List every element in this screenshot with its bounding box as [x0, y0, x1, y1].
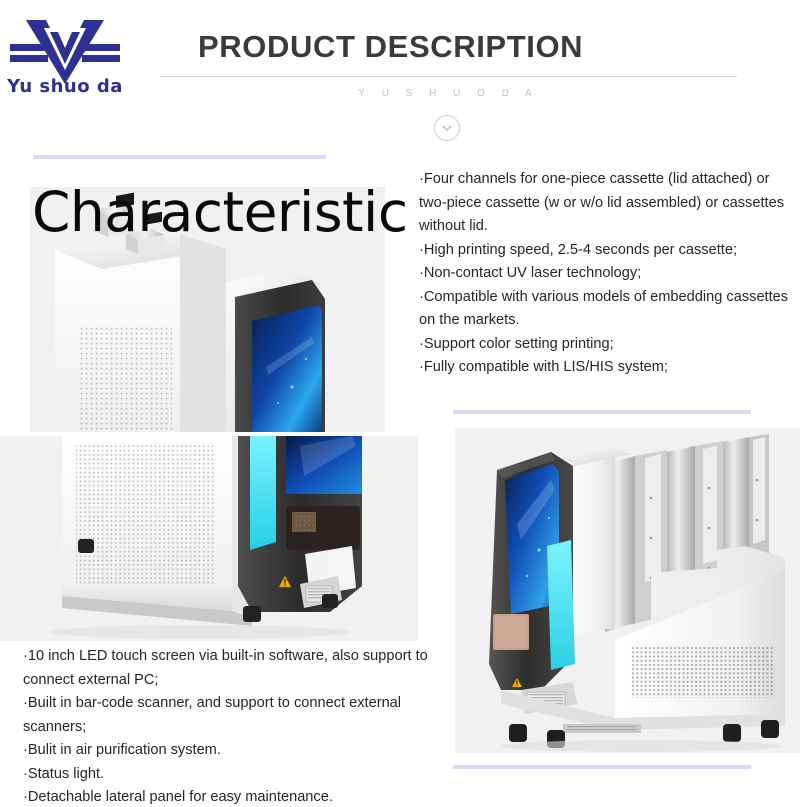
divider-bar-right-mid: [453, 410, 751, 414]
characteristic-heading: Characteristic: [32, 180, 408, 244]
feature-item: ·Four channels for one-piece cassette (l…: [419, 168, 791, 239]
features-bottom-list: ·10 inch LED touch screen via built-in s…: [23, 645, 435, 807]
feature-item: ·Fully compatible with LIS/HIS system;: [419, 356, 791, 380]
chevron-down-icon[interactable]: [434, 115, 460, 141]
feature-item: ·Detachable lateral panel for easy maint…: [23, 786, 435, 807]
cassette-printer-lower-body-photo: [0, 436, 418, 641]
divider-bar-right-bottom: [453, 765, 751, 769]
feature-item: ·Compatible with various models of embed…: [419, 286, 791, 333]
feature-item: ·Status light.: [23, 763, 435, 787]
feature-item: ·Built in bar-code scanner, and support …: [23, 692, 435, 739]
product-description-page: Yu shuo da PRODUCT DESCRIPTION Y U S H U…: [0, 0, 800, 807]
divider-bar-left-top: [33, 155, 326, 159]
feature-item: ·Bulit in air purification system.: [23, 739, 435, 763]
feature-item: ·10 inch LED touch screen via built-in s…: [23, 645, 435, 692]
cassette-printer-front-full-photo: [455, 428, 800, 753]
title-divider-rule: [160, 76, 737, 77]
feature-item: ·Non-contact UV laser technology;: [419, 262, 791, 286]
title-block: PRODUCT DESCRIPTION Y U S H U O D A: [160, 0, 800, 145]
page-header: Yu shuo da PRODUCT DESCRIPTION Y U S H U…: [0, 0, 800, 145]
features-right-list: ·Four channels for one-piece cassette (l…: [419, 168, 791, 380]
brand-wordmark: Yu shuo da: [6, 76, 124, 97]
feature-item: ·Support color setting printing;: [419, 333, 791, 357]
brand-subtitle: Y U S H U O D A: [160, 88, 737, 99]
feature-item: ·High printing speed, 2.5-4 seconds per …: [419, 239, 791, 263]
page-title: PRODUCT DESCRIPTION: [198, 29, 583, 65]
